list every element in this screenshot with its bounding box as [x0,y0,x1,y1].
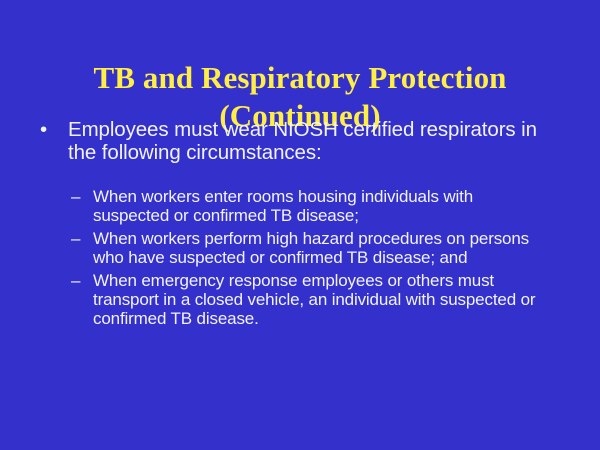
presentation-slide: TB and Respiratory Protection (Continued… [0,0,600,450]
sub-bullet-text-1: When workers enter rooms housing individ… [93,187,473,225]
list-item: – When emergency response employees or o… [0,272,600,328]
bullet-text-primary: Employees must wear NIOSH certified resp… [68,118,537,164]
dash-marker-icon: – [71,230,80,249]
list-item: – When workers perform high hazard proce… [0,230,600,267]
bullet-item-primary: • Employees must wear NIOSH certified re… [0,118,600,164]
sub-bullet-text-3: When emergency response employees or oth… [93,271,535,327]
slide-body: • Employees must wear NIOSH certified re… [0,118,600,328]
dash-marker-icon: – [71,188,80,207]
dash-marker-icon: – [71,272,80,291]
list-item: – When workers enter rooms housing indiv… [0,188,600,225]
bullet-dot-icon: • [40,118,47,141]
sub-bullet-list: – When workers enter rooms housing indiv… [0,188,600,328]
sub-bullet-text-2: When workers perform high hazard procedu… [93,229,529,267]
